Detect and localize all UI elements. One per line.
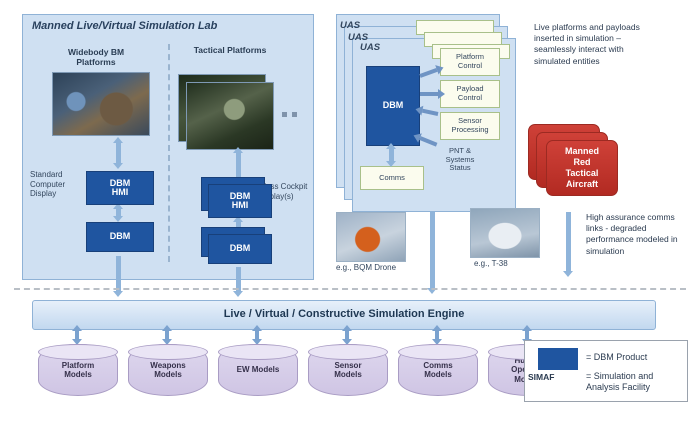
- dbm-box-uas: DBM: [366, 66, 420, 146]
- dbm-box-tactical: DBM: [208, 234, 272, 264]
- diagram-canvas: Manned Live/Virtual Simulation Lab Wideb…: [0, 0, 698, 425]
- standard-display-label: Standard Computer Display: [30, 170, 84, 199]
- comms-links-note: High assurance comms links - degraded pe…: [586, 212, 688, 257]
- uas-label-back-2: UAS: [340, 20, 360, 31]
- dbm-hmi-box-tactical: DBM HMI: [208, 184, 272, 218]
- manned-red-aircraft-card-front: Manned Red Tactical Aircraft: [546, 140, 618, 196]
- ellipsis-dot-icon: [282, 112, 287, 117]
- weapons-models-cylinder: Weapons Models: [128, 344, 208, 396]
- red-line4: Aircraft: [566, 179, 598, 190]
- pnt-line3: Status: [449, 164, 470, 173]
- dbm-hmi-line2: HMI: [232, 201, 249, 210]
- t38-aircraft-photo: [470, 208, 540, 258]
- live-insertion-note: Live platforms and payloads inserted in …: [534, 22, 658, 67]
- arrow-engine-to-weapons-models: [165, 330, 169, 340]
- dbm-hmi-line2: HMI: [112, 188, 129, 197]
- bqm-drone-caption: e.g., BQM Drone: [336, 263, 396, 272]
- arrow-engine-to-comms-models: [435, 330, 439, 340]
- arrow-comms-note-to-engine: [566, 212, 571, 272]
- comms-models-cylinder: Comms Models: [398, 344, 478, 396]
- widebody-operator-photo: [52, 72, 150, 136]
- legend-dbm-product-label: = DBM Product: [586, 352, 647, 362]
- arrow-engine-to-platform-models: [75, 330, 79, 340]
- red-line2: Red: [573, 157, 590, 168]
- sensor-processing-line2: Processing: [451, 126, 488, 135]
- dbm-hmi-box-widebody: DBM HMI: [86, 171, 154, 205]
- ew-models-cylinder: EW Models: [218, 344, 298, 396]
- tactical-column-heading: Tactical Platforms: [180, 46, 280, 56]
- cyl-line2: Models: [334, 370, 362, 379]
- pnt-systems-status-box: PNT & Systems Status: [436, 143, 484, 177]
- sensor-models-cylinder: Sensor Models: [308, 344, 388, 396]
- payload-control-line2: Control: [458, 94, 482, 103]
- widebody-column-heading: Widebody BM Platforms: [48, 48, 144, 68]
- ellipsis-dot-icon: [292, 112, 297, 117]
- dbm-box-widebody: DBM: [86, 222, 154, 252]
- lab-column-divider: [168, 44, 170, 262]
- arrow-engine-to-ew-models: [255, 330, 259, 340]
- legend-simaf-abbreviation: SIMAF: [528, 372, 554, 382]
- arrow-dbm-left-to-engine: [116, 256, 121, 292]
- legend-simaf-definition: = Simulation and Analysis Facility: [586, 371, 678, 394]
- platform-control-box: Platform Control: [440, 48, 500, 76]
- arrow-dbm-to-payload-control: [420, 92, 438, 96]
- lab-panel-title: Manned Live/Virtual Simulation Lab: [32, 20, 282, 32]
- arrow-dbm-to-comms: [389, 148, 394, 162]
- sensor-processing-box: Sensor Processing: [440, 112, 500, 140]
- red-line1: Manned: [565, 146, 599, 157]
- cyl-line1: Weapons: [150, 361, 185, 370]
- t38-caption: e.g., T-38: [474, 259, 508, 268]
- uas-label-front: UAS: [360, 42, 380, 53]
- arrow-widebody-to-hmi: [116, 142, 121, 164]
- arrow-tactical-to-hmi: [236, 152, 241, 178]
- platform-control-line2: Control: [458, 62, 482, 71]
- cyl-line1: Sensor: [334, 361, 361, 370]
- cyl-line2: Models: [64, 370, 92, 379]
- red-line3: Tactical: [566, 168, 599, 179]
- live-virtual-boundary-divider: [14, 288, 686, 290]
- payload-control-box: Payload Control: [440, 80, 500, 108]
- bqm-drone-photo: [336, 212, 406, 262]
- cyl-line2: Models: [154, 370, 182, 379]
- arrow-engine-to-human-operator-models: [525, 330, 529, 340]
- arrow-hmi-to-dbm-left: [116, 208, 121, 217]
- arrow-uas-to-engine: [430, 211, 435, 289]
- cyl-line1: EW Models: [237, 365, 280, 374]
- comms-box-uas: Comms: [360, 166, 424, 190]
- dbm-product-swatch-icon: [538, 348, 578, 370]
- tactical-cockpit-photo-front: [186, 82, 274, 150]
- platform-models-cylinder: Platform Models: [38, 344, 118, 396]
- cyl-line1: Platform: [62, 361, 94, 370]
- cyl-line1: Comms: [423, 361, 452, 370]
- arrow-engine-to-sensor-models: [345, 330, 349, 340]
- arrow-hmi-to-dbm-right: [236, 221, 241, 229]
- cyl-line2: Models: [424, 370, 452, 379]
